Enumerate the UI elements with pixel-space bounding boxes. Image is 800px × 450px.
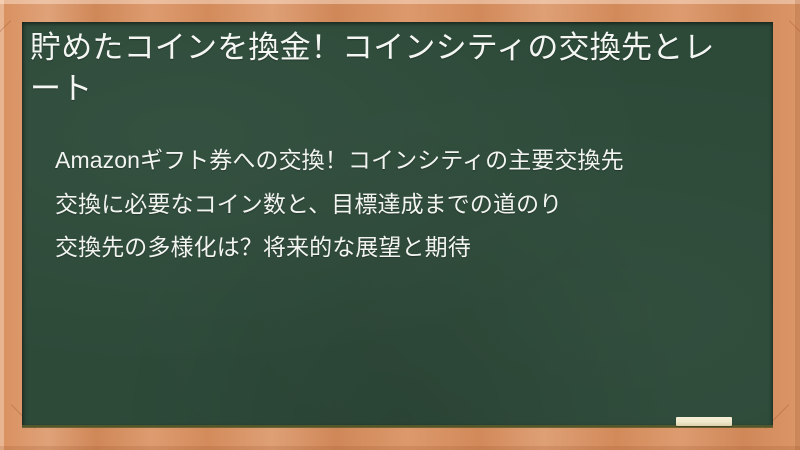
frame-bevel-top	[0, 0, 800, 4]
board-bottom-lip	[22, 425, 773, 428]
chalkboard-surface: 貯めたコインを換金！コインシティの交換先とレート Amazonギフト券への交換！…	[22, 22, 773, 427]
blackboard-frame: 貯めたコインを換金！コインシティの交換先とレート Amazonギフト券への交換！…	[0, 0, 800, 450]
frame-bevel-bottom	[0, 446, 800, 450]
page-title: 貯めたコインを換金！コインシティの交換先とレート	[30, 28, 730, 110]
board-content: 貯めたコインを換金！コインシティの交換先とレート Amazonギフト券への交換！…	[22, 22, 773, 427]
frame-bevel-right	[795, 0, 800, 450]
frame-bevel-left	[0, 0, 4, 450]
list-item: 交換に必要なコイン数と、目標達成までの道のり	[30, 188, 750, 221]
chalk-stick-icon	[676, 417, 732, 426]
outline-list: Amazonギフト券への交換！コインシティの主要交換先 交換に必要なコイン数と、…	[30, 144, 750, 275]
list-item: 交換先の多様化は？将来的な展望と期待	[30, 231, 750, 264]
list-item: Amazonギフト券への交換！コインシティの主要交換先	[30, 144, 750, 177]
